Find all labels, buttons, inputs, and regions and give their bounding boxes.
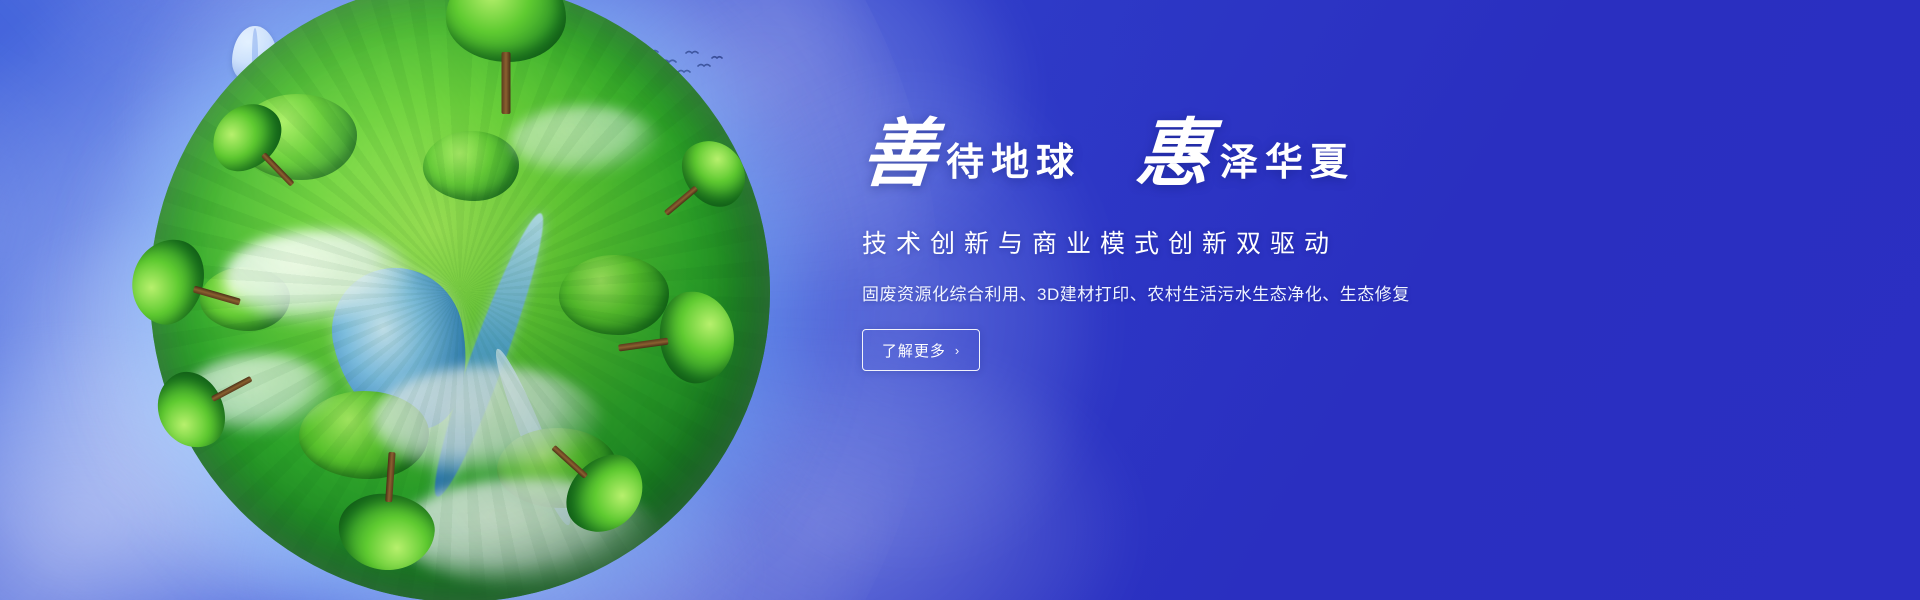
headline-text-small-1: 待地球 xyxy=(946,131,1081,186)
headline-text-small-2: 泽华夏 xyxy=(1220,131,1355,186)
globe-tree xyxy=(336,449,440,573)
headline: 善 待地球 惠 泽华夏 xyxy=(862,118,1562,214)
earth-globe xyxy=(150,0,790,600)
learn-more-button[interactable]: 了解更多 › xyxy=(862,329,980,371)
chevron-right-icon: › xyxy=(955,343,960,358)
headline-group-1: 善 待地球 xyxy=(862,118,1081,192)
headline-char-big-2: 惠 xyxy=(1133,118,1212,192)
headline-char-big-1: 善 xyxy=(859,118,938,192)
headline-group-2: 惠 泽华夏 xyxy=(1136,118,1355,192)
description: 固废资源化综合利用、3D建材打印、农村生活污水生态净化、生态修复 xyxy=(862,280,1562,305)
subtitle: 技术创新与商业模式创新双驱动 xyxy=(862,224,1562,260)
hero-banner: 善 待地球 惠 泽华夏 技术创新与商业模式创新双驱动 固废资源化综合利用、3D建… xyxy=(0,0,1920,600)
learn-more-label: 了解更多 xyxy=(882,340,946,361)
globe-tree xyxy=(446,0,566,114)
hero-text-block: 善 待地球 惠 泽华夏 技术创新与商业模式创新双驱动 固废资源化综合利用、3D建… xyxy=(862,118,1562,371)
globe-tree xyxy=(612,286,740,393)
